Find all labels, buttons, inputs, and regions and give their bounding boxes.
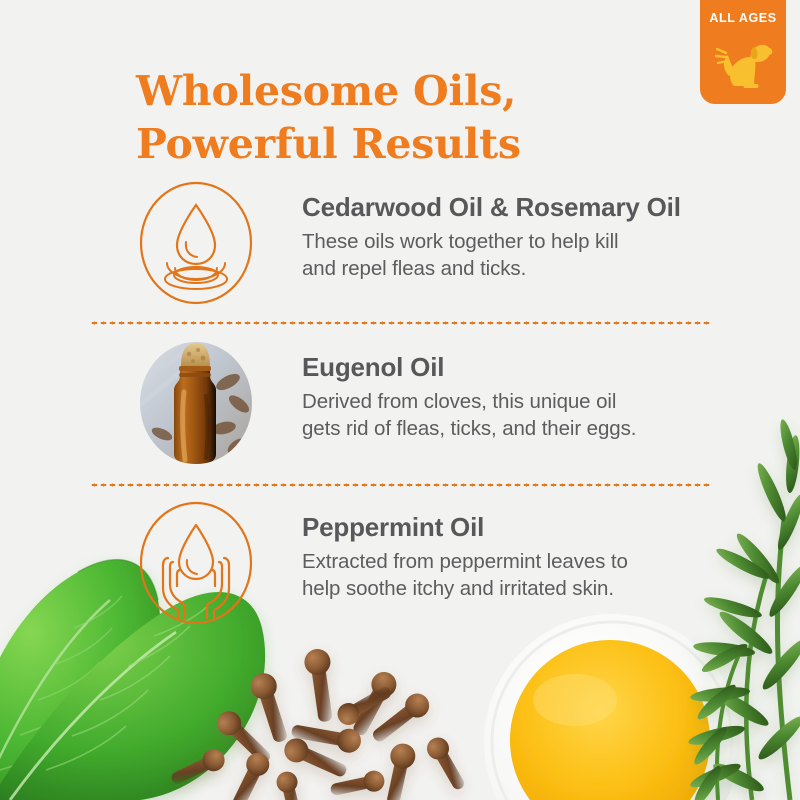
ingredient-text-block: Cedarwood Oil & Rosemary Oil These oils … xyxy=(302,192,772,283)
ingredient-description: Derived from cloves, this unique oil get… xyxy=(302,388,772,443)
ingredient-description: Extracted from peppermint leaves to help… xyxy=(302,548,772,603)
droplet-in-hands-icon xyxy=(137,500,255,626)
all-ages-label: ALL AGES xyxy=(700,12,786,25)
description-line-2: help soothe itchy and irritated skin. xyxy=(302,575,772,602)
ingredient-text-block: Peppermint Oil Extracted from peppermint… xyxy=(302,512,772,603)
ingredient-title: Cedarwood Oil & Rosemary Oil xyxy=(302,192,772,222)
row-divider-2 xyxy=(90,483,710,487)
ingredient-row-cedarwood-rosemary: Cedarwood Oil & Rosemary Oil These oils … xyxy=(0,180,800,310)
all-ages-badge: ALL AGES xyxy=(700,0,786,104)
title-line-2: Powerful Results xyxy=(136,118,696,171)
ingredient-row-peppermint: Peppermint Oil Extracted from peppermint… xyxy=(0,500,800,630)
description-line-1: These oils work together to help kill xyxy=(302,228,772,255)
bowl-of-oil-photo xyxy=(484,614,740,800)
droplet-ripple-icon xyxy=(137,180,255,306)
ingredient-text-block: Eugenol Oil Derived from cloves, this un… xyxy=(302,352,772,443)
ingredients-infographic: ALL AGES Wholesome Oils, P xyxy=(0,0,800,800)
description-line-2: gets rid of fleas, ticks, and their eggs… xyxy=(302,415,772,442)
ingredient-description: These oils work together to help kill an… xyxy=(302,228,772,283)
ingredient-title: Eugenol Oil xyxy=(302,352,772,382)
description-line-1: Extracted from peppermint leaves to xyxy=(302,548,772,575)
description-line-1: Derived from cloves, this unique oil xyxy=(302,388,772,415)
title-line-1: Wholesome Oils, xyxy=(136,65,696,118)
dried-cloves-photo xyxy=(167,647,470,800)
description-line-2: and repel fleas and ticks. xyxy=(302,255,772,282)
sitting-dog-icon xyxy=(712,32,774,92)
amber-oil-bottle-photo xyxy=(140,342,252,464)
ingredient-title: Peppermint Oil xyxy=(302,512,772,542)
page-title: Wholesome Oils, Powerful Results xyxy=(136,65,696,171)
row-divider-1 xyxy=(90,321,710,325)
ingredient-row-eugenol: Eugenol Oil Derived from cloves, this un… xyxy=(0,340,800,470)
